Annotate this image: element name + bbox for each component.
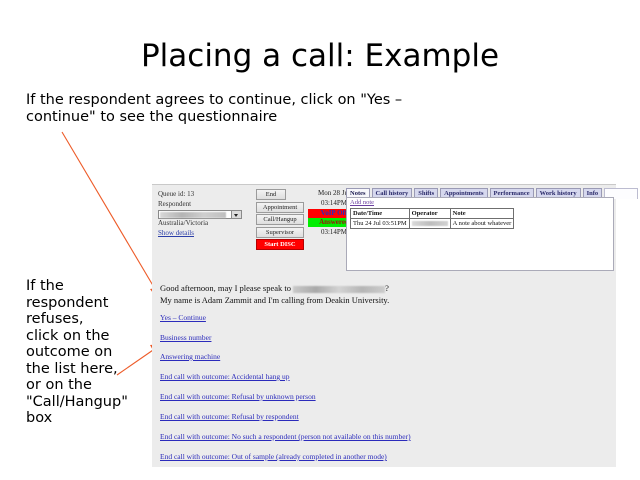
outcome-link-list: Yes – Continue Business number Answering… (160, 313, 608, 472)
supervisor-button[interactable]: Supervisor (256, 227, 304, 238)
end-button[interactable]: End (256, 189, 286, 200)
start-disc-button[interactable]: Start DISC (256, 239, 304, 250)
cell-datetime: Thu 24 Jul 03:51PM (351, 219, 410, 229)
respondent-select[interactable] (158, 210, 242, 219)
script-question-mark: ? (385, 283, 389, 293)
show-details-link[interactable]: Show details (158, 229, 250, 237)
notes-tab-body: Add note Date/Time Operator Note Thu 24 … (346, 197, 614, 271)
redacted-respondent-name (160, 212, 226, 218)
call-control-buttons: End Appointment Call/Hangup Supervisor S… (256, 189, 304, 252)
link-outcome-no-such-respondent[interactable]: End call with outcome: No such a respond… (160, 432, 608, 442)
script-greeting: Good afternoon, may I please speak to (160, 283, 293, 293)
link-yes-continue[interactable]: Yes – Continue (160, 313, 608, 323)
script-line-2: My name is Adam Zammit and I'm calling f… (160, 295, 608, 307)
application-screenshot: Queue id: 13 Respondent Australia/Victor… (152, 184, 616, 467)
tab-panel: Notes Call history Shifts Appointments P… (346, 185, 616, 273)
table-row: Thu 24 Jul 03:51PM A note about whatever (351, 219, 514, 229)
queue-id-label: Queue id: 13 (158, 190, 250, 200)
app-top-bar: Queue id: 13 Respondent Australia/Victor… (152, 185, 616, 257)
link-outcome-accidental-hangup[interactable]: End call with outcome: Accidental hang u… (160, 372, 608, 382)
link-outcome-out-of-sample[interactable]: End call with outcome: Out of sample (al… (160, 452, 608, 462)
respondent-block: Queue id: 13 Respondent Australia/Victor… (158, 190, 250, 237)
redacted-respondent-inline (293, 286, 385, 293)
chevron-down-icon[interactable] (231, 211, 241, 218)
callout-top-text: If the respondent agrees to continue, cl… (26, 92, 456, 126)
appointment-button[interactable]: Appointment (256, 202, 304, 213)
call-script: Good afternoon, may I please speak to ? … (160, 283, 608, 306)
call-hangup-button[interactable]: Call/Hangup (256, 214, 304, 225)
column-operator: Operator (409, 209, 450, 219)
callout-left-text: If the respondent refuses, click on the … (26, 278, 118, 427)
link-business-number[interactable]: Business number (160, 333, 608, 343)
cell-operator (409, 219, 450, 229)
respondent-label: Respondent (158, 200, 250, 210)
cell-note: A note about whatever (450, 219, 514, 229)
timezone-label: Australia/Victoria (158, 219, 250, 229)
page-title: Placing a call: Example (0, 38, 640, 74)
slide-canvas: Placing a call: Example If the responden… (0, 0, 640, 480)
column-datetime: Date/Time (351, 209, 410, 219)
column-note: Note (450, 209, 514, 219)
notes-table: Date/Time Operator Note Thu 24 Jul 03:51… (350, 208, 514, 229)
script-line-1: Good afternoon, may I please speak to ? (160, 283, 608, 295)
link-outcome-refusal-unknown-person[interactable]: End call with outcome: Refusal by unknow… (160, 392, 608, 402)
link-answering-machine[interactable]: Answering machine (160, 352, 608, 362)
table-header-row: Date/Time Operator Note (351, 209, 514, 219)
add-note-link[interactable]: Add note (350, 199, 374, 206)
redacted-operator-name (412, 221, 448, 226)
link-outcome-refusal-respondent[interactable]: End call with outcome: Refusal by respon… (160, 412, 608, 422)
